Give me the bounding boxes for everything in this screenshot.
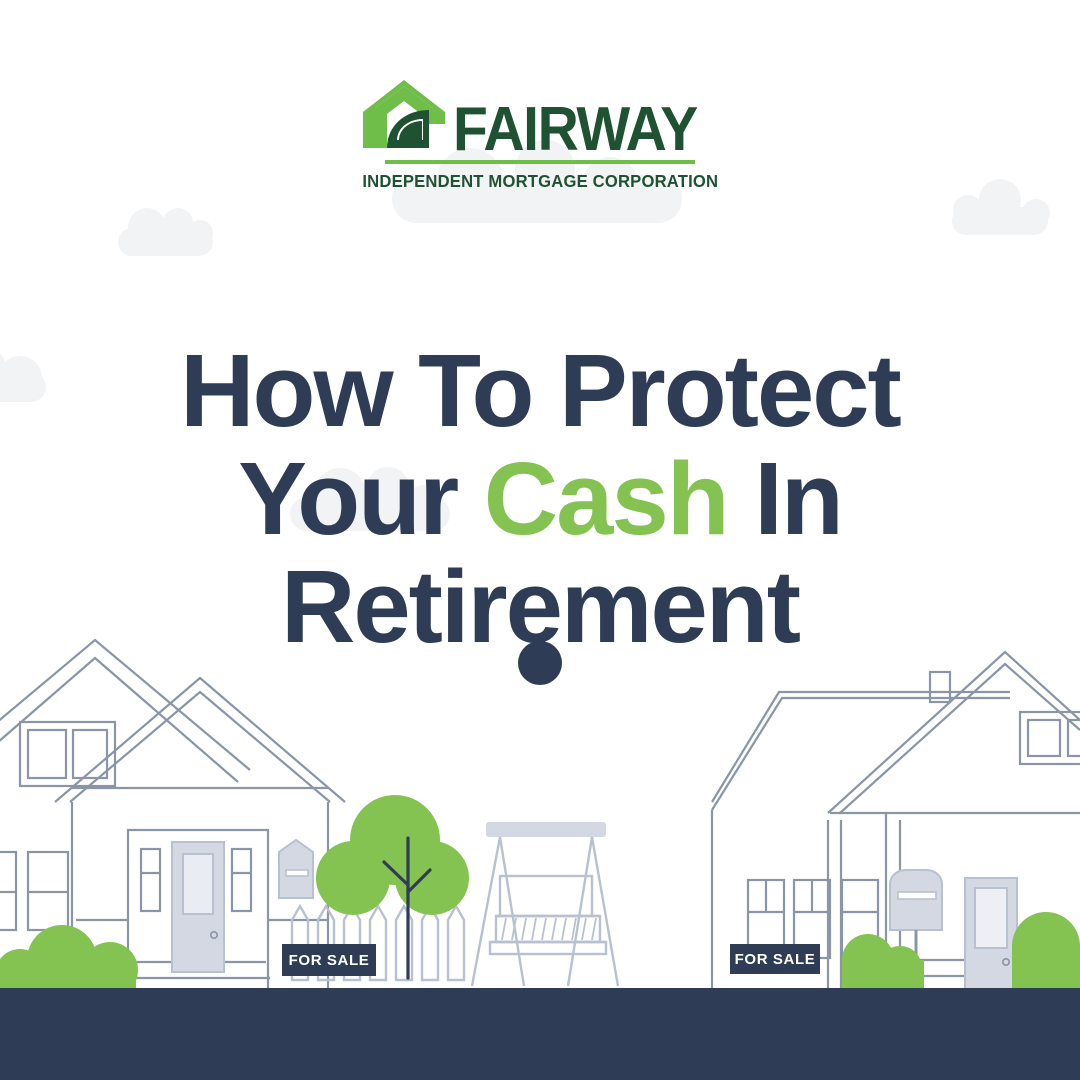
- ground-strip: [0, 988, 1080, 1080]
- headline-accent-word: Cash: [484, 441, 728, 556]
- page-title: How To Protect Your Cash In Retirement: [0, 337, 1080, 661]
- logo-wordmark: FAIRWAY: [453, 105, 697, 156]
- headline-line-2: Your Cash In: [0, 445, 1080, 553]
- for-sale-sign-left: FOR SALE: [282, 944, 376, 976]
- poster-canvas: FAIRWAY INDEPENDENT MORTGAGE CORPORATION…: [0, 0, 1080, 1080]
- bush-right: [842, 934, 924, 990]
- for-sale-label: FOR SALE: [735, 951, 816, 968]
- headline-line2-pre: Your: [238, 441, 484, 556]
- front-door-right: [965, 878, 1017, 996]
- fairway-house-logo-icon: [361, 78, 447, 156]
- wall-mounted-mailbox-icon: [279, 840, 313, 898]
- porch-swing: [472, 822, 618, 986]
- brand-logo: FAIRWAY INDEPENDENT MORTGAGE CORPORATION: [0, 78, 1080, 192]
- bush-far-right: [1012, 912, 1080, 988]
- headline-line2-post: In: [728, 441, 842, 556]
- logo-tagline: INDEPENDENT MORTGAGE CORPORATION: [362, 171, 718, 192]
- cloud-top-left-icon: [118, 208, 213, 256]
- front-door-left: [172, 842, 224, 972]
- for-sale-label: FOR SALE: [289, 952, 370, 969]
- for-sale-sign-right: FOR SALE: [730, 944, 820, 974]
- headline-line-3: Retirement: [0, 553, 1080, 661]
- left-house-rear-gable: [0, 640, 250, 786]
- headline-line-1: How To Protect: [0, 337, 1080, 445]
